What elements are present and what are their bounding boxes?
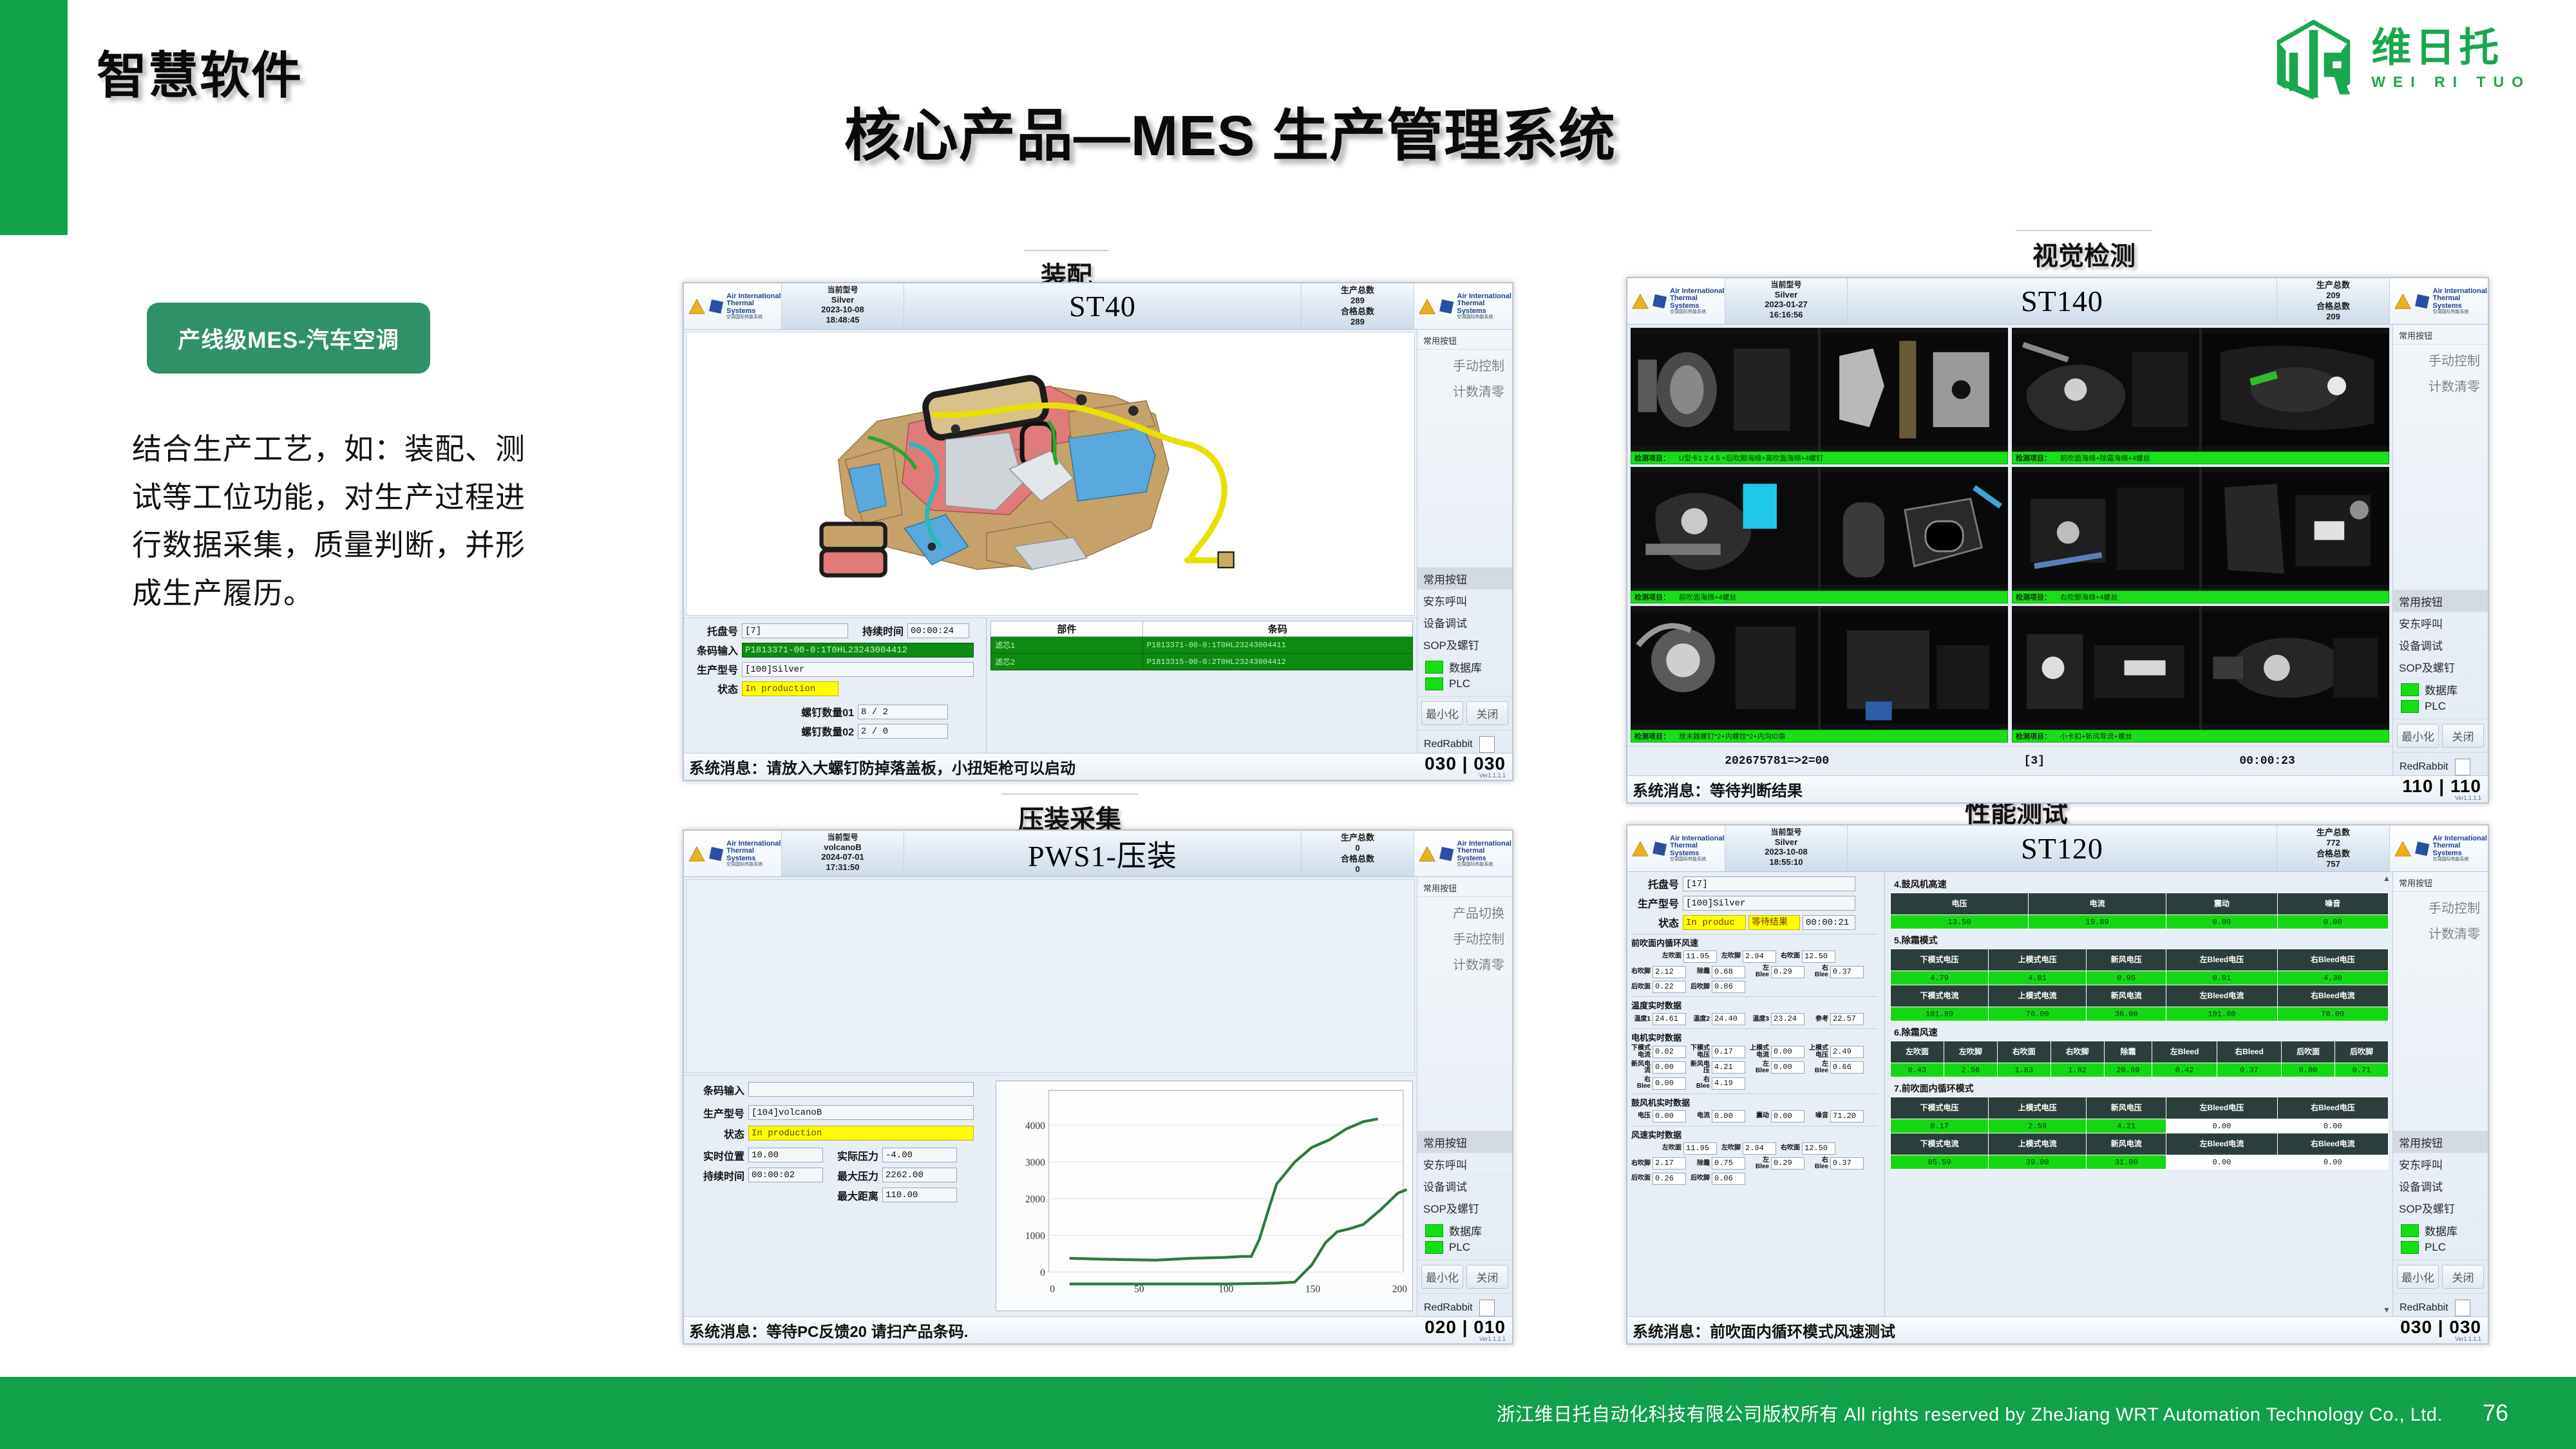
model-value: volcanoB (782, 842, 904, 853)
th-left-bleed-current: 左Bleed电流 (2166, 1133, 2277, 1155)
strip-label: 检测项目： (2016, 453, 2051, 463)
table-row[interactable]: 滤芯1 P1813371-00-0:1T0HL23243004411 (991, 637, 1413, 654)
status-wait-result: 等待结果 (1748, 915, 1800, 930)
vision-footer: 202675781=>2=00 [3] 00:00:23 (1627, 746, 2392, 775)
model-label: 当前型号 (1725, 280, 1847, 290)
field-value: 0.02 (1653, 1046, 1686, 1058)
prodmodel-label: 生产型号 (684, 1105, 748, 1121)
field-label: 后吹面 (1631, 984, 1651, 990)
sidebar-item-common[interactable]: 常用按钮 (2393, 591, 2488, 612)
close-button[interactable]: 关闭 (1466, 701, 1508, 725)
cell-part: 滤芯2 (991, 654, 1143, 670)
current-model-block: 当前型号 Silver 2023-01-27 16:16:56 (1725, 278, 1848, 324)
svg-text:100: 100 (1218, 1283, 1233, 1294)
cell-value: 0.91 (2166, 971, 2277, 985)
redrabbit-checkbox[interactable] (1479, 736, 1495, 753)
plc-status-led (2401, 1241, 2419, 1254)
status-bar: 系统消息：等待判断结果 110 | 110 Ver1.1.1.1 (1627, 775, 2488, 802)
panel-icon (1652, 293, 1667, 310)
total-label: 生产总数 (1302, 833, 1414, 843)
th-upper-mode-current: 上模式电流 (1989, 1133, 2087, 1155)
field-value: 0.00 (1771, 1046, 1804, 1058)
station-name: PWS1-压装 (904, 831, 1302, 876)
camera-view[interactable] (1821, 328, 2008, 451)
group-title: 前吹面内循环风速 (1631, 936, 1878, 949)
th-defrost: 除霜 (2104, 1041, 2152, 1063)
camera-view[interactable] (1821, 606, 2008, 730)
minimize-button[interactable]: 最小化 (1421, 701, 1463, 725)
field-value: 0.37 (1830, 1157, 1864, 1170)
th-fresh-air-voltage: 新风电压 (2087, 949, 2166, 971)
test-sections-column[interactable]: ▲ ▼ 4.鼓风机高速 电压 电流 震动 噪音 13.50 15.8 (1885, 872, 2392, 1316)
minimize-button[interactable]: 最小化 (1421, 1265, 1463, 1289)
sidebar-item-andon[interactable]: 安东呼叫 (2393, 1153, 2488, 1175)
field-label: 右吹脚 (1631, 969, 1651, 975)
camera-view[interactable] (1631, 467, 1818, 591)
field-label: 左Blee (1750, 1061, 1769, 1074)
cell-value: 0.43 (1891, 1063, 1944, 1077)
strip-label: 检测项目： (1634, 453, 1670, 463)
th-left-bleed-current: 左Bleed电流 (2166, 985, 2277, 1007)
sidebar-item-andon[interactable]: 安东呼叫 (1417, 590, 1512, 612)
brand-line3: 空调国际热能系统 (1670, 857, 1725, 862)
field-value: 2.94 (1743, 1142, 1776, 1155)
plc-status-led (1425, 677, 1443, 690)
brand-line3: 空调国际热能系统 (726, 315, 781, 319)
time-value: 18:48:45 (782, 315, 904, 325)
inspection-strip: 检测项目： 小卡扣+新风导流+螺丝 (2012, 730, 2389, 743)
camera-group: 检测项目： U型卡1 2 4 5 +后吹脚海绵+高吹面海绵+4螺钉 检测项目： … (1631, 328, 2008, 743)
test-table-defrost-windspeed: 左吹面 左吹脚 右吹面 右吹脚 除霜 左Bleed 右Bleed 后吹面 后吹脚… (1890, 1041, 2389, 1077)
brand-logo-left: Air International Thermal Systems 空调国际热能… (1627, 278, 1725, 324)
page-number: 76 (2483, 1399, 2508, 1426)
database-label: 数据库 (2425, 681, 2458, 697)
field-label: 右吹面 (1781, 953, 1800, 960)
data-group-blower: 鼓风机实时数据 电压0.00 电流0.00 震动0.00 噪音71.20 (1631, 1094, 1878, 1122)
logo-chinese-name: 维日托 (2371, 28, 2503, 68)
date-value: 2023-10-08 (782, 305, 904, 315)
panel-icon (2414, 840, 2430, 857)
pass-label: 合格总数 (2277, 849, 2389, 859)
cycle-counter: 030 | 030 (2400, 1318, 2481, 1336)
strip-label: 检测项目： (1634, 731, 1670, 741)
sidebar-action-manual[interactable]: 手动控制 (1417, 355, 1508, 374)
redrabbit-checkbox[interactable] (1479, 1300, 1495, 1316)
triangle-icon (1418, 844, 1436, 864)
time-value: 18:55:10 (1725, 857, 1847, 867)
triangle-icon (2394, 839, 2412, 858)
brand-logo-left: Air International Thermal Systems 空调国际热能… (684, 283, 782, 329)
model-label: 当前型号 (782, 833, 904, 842)
field-label: 温度2 (1690, 1016, 1710, 1023)
redrabbit-label: RedRabbit (2400, 1302, 2448, 1314)
field-label: 除霜 (1690, 1160, 1710, 1167)
status-message: 系统消息：前吹面内循环模式风速测试 (1633, 1319, 1895, 1341)
th-left-face: 左吹面 (1891, 1041, 1944, 1063)
camera-view[interactable] (2202, 606, 2389, 730)
production-counts: 生产总数 209 合格总数 209 (2277, 278, 2390, 324)
database-status-led (1425, 1224, 1443, 1237)
press-viewport[interactable] (686, 879, 1415, 1073)
status-bar: 系统消息：等待PC反馈20 请扫产品条码. 020 | 010 Ver1.1.1… (684, 1316, 1512, 1343)
plc-label: PLC (2425, 1241, 2446, 1254)
camera-view[interactable] (2202, 328, 2389, 451)
redrabbit-checkbox[interactable] (2455, 759, 2470, 775)
station-name: ST140 (1848, 278, 2277, 324)
screw01-label: 螺钉数量01 (684, 704, 858, 719)
triangle-icon (2394, 292, 2412, 311)
cell-value: 0.00 (2277, 915, 2388, 929)
minimize-button[interactable]: 最小化 (2397, 724, 2439, 748)
svg-text:150: 150 (1305, 1283, 1320, 1294)
camera-group: 检测项目： 前吹面海绵+除霜海绵+4螺丝 检测项目： 右吹脚海绵+4螺丝 (2012, 328, 2389, 743)
cycle-counter: 110 | 110 (2402, 777, 2481, 795)
actual-pressure-value: -4.00 (882, 1148, 957, 1162)
camera-view[interactable] (1631, 328, 1818, 451)
camera-view[interactable] (2012, 467, 2199, 591)
pws1-form: 条码输入 生产型号 [104]volcanoB 状态 In production… (684, 1075, 1417, 1316)
time-value: 17:31:50 (782, 862, 904, 873)
current-model-block: 当前型号 Silver 2023-10-08 18:48:45 (782, 283, 904, 329)
cell-value: 4.81 (1989, 971, 2087, 985)
cell-value: 4.21 (2087, 1119, 2166, 1133)
prodmodel-label: 生产型号 (1627, 895, 1683, 911)
triangle-icon (688, 297, 706, 316)
field-label: 温度3 (1750, 1016, 1769, 1023)
cell-value: 0.00 (2166, 1155, 2277, 1170)
cell-value: 0.42 (2152, 1063, 2217, 1077)
cell-value: 0.00 (2166, 915, 2277, 929)
field-label: 震动 (1750, 1113, 1769, 1119)
svg-text:50: 50 (1134, 1283, 1144, 1294)
tray-input[interactable]: [17] (1683, 876, 1855, 891)
cell-barcode: P1813371-00-0:1T0HL23243004411 (1142, 637, 1412, 654)
model-label: 当前型号 (1725, 828, 1847, 837)
prodmodel-input[interactable]: [100]Silver (1683, 896, 1855, 911)
table-row: 4.79 4.81 0.95 0.91 4.30 (1891, 971, 2389, 985)
col-part: 部件 (991, 621, 1143, 637)
prodmodel-input[interactable]: [100]Silver (742, 662, 974, 677)
svg-text:3000: 3000 (1025, 1157, 1045, 1168)
scroll-up-icon[interactable]: ▲ (2382, 873, 2391, 884)
close-button[interactable]: 关闭 (2442, 1265, 2484, 1289)
model-value: Silver (782, 295, 904, 305)
barcode-label: 条码输入 (684, 1082, 748, 1097)
total-label: 生产总数 (2277, 280, 2389, 290)
brand-line2: Thermal Systems (726, 300, 781, 315)
field-label: 左Blee (1750, 1157, 1769, 1170)
sidebar-item-common[interactable]: 常用按钮 (2393, 1132, 2488, 1153)
th-noise: 噪音 (2277, 893, 2388, 915)
field-value: 4.19 (1712, 1077, 1745, 1090)
plc-status-led (1425, 1241, 1443, 1254)
status-message: 系统消息：等待判断结果 (1633, 778, 1803, 800)
production-counts: 生产总数 289 合格总数 289 (1302, 283, 1414, 329)
table-header-row: 电压 电流 震动 噪音 (1891, 893, 2389, 915)
svg-text:1000: 1000 (1025, 1231, 1045, 1242)
field-label: 左Blee (1750, 965, 1769, 978)
field-value: 11.95 (1683, 1142, 1717, 1155)
cell-value: 20.69 (2104, 1063, 2152, 1077)
section-title: 6.除霜风速 (1894, 1026, 2389, 1039)
hvac-assembly-illustration (687, 332, 1414, 615)
cell-value: 0.95 (2087, 971, 2166, 985)
cell-value: 0.00 (2277, 1119, 2388, 1133)
field-value: 0.00 (1712, 1110, 1745, 1122)
table-row: 0.17 2.59 4.21 0.00 0.00 (1891, 1119, 2389, 1133)
svg-text:0: 0 (1050, 1283, 1055, 1294)
table-row[interactable]: 滤芯2 P1813315-00-0:2T0HL23243004412 (991, 654, 1413, 670)
cell-value: 0.00 (2166, 1119, 2277, 1133)
table-header-row: 下模式电压 上模式电压 新风电压 左Bleed电压 右Bleed电压 (1891, 949, 2389, 971)
test-table-defrost-mode: 下模式电压 上模式电压 新风电压 左Bleed电压 右Bleed电压 4.79 … (1890, 949, 2389, 1021)
total-value: 209 (2277, 290, 2389, 301)
window-header: Air International Thermal Systems 空调国际热能… (684, 831, 1512, 877)
brand-logo-left: Air International Thermal Systems 空调国际热能… (1627, 826, 1725, 871)
data-group-windspeed: 风速实时数据 左吹面11.95 左吹脚2.94 右吹面12.50 右吹脚2.17… (1631, 1126, 1878, 1185)
field-label: 右Blee (1809, 965, 1828, 978)
sidebar-action-manual[interactable]: 手动控制 (2393, 350, 2484, 369)
duration-label: 持续时间 (684, 1168, 748, 1183)
data-group-front-blow: 前吹面内循环风速 左吹面11.95 左吹脚2.94 右吹面12.50 右吹脚2.… (1631, 934, 1878, 993)
sidebar-item-debug[interactable]: 设备调试 (1417, 612, 1512, 634)
barcode-input[interactable]: P1813371-00-0:1T0HL23243004412 (742, 643, 974, 658)
pass-label: 合格总数 (1302, 854, 1414, 864)
field-label: 噪音 (1809, 1113, 1828, 1119)
status-value: In production (742, 681, 838, 696)
th-lower-mode-voltage: 下模式电压 (1891, 949, 1989, 971)
slide-corner-title: 智慧软件 (97, 35, 303, 108)
cell-value: 15.89 (2029, 915, 2166, 929)
sidebar-item-sop[interactable]: SOP及螺钉 (1417, 1197, 1512, 1219)
cell-value: 0.17 (1891, 1119, 1989, 1133)
database-status-led (2401, 1224, 2419, 1237)
status-elapsed: 00:00:21 (1803, 915, 1855, 930)
tray-label: 托盘号 (1627, 876, 1683, 891)
sidebar-action-reset-count[interactable]: 计数清零 (1417, 381, 1508, 400)
redrabbit-checkbox[interactable] (2455, 1300, 2470, 1316)
test-table-front-recirc: 下模式电压 上模式电压 新风电压 左Bleed电压 右Bleed电压 0.17 … (1890, 1097, 2389, 1170)
current-model-block: 当前型号 Silver 2023-10-08 18:55:10 (1725, 826, 1848, 871)
close-button[interactable]: 关闭 (1466, 1265, 1508, 1289)
cell-value: 0.71 (2335, 1063, 2389, 1077)
cell-value: 4.30 (2277, 971, 2388, 985)
sidebar-item-debug[interactable]: 设备调试 (2393, 1175, 2488, 1197)
th-right-bleed-voltage: 右Bleed电压 (2277, 1097, 2388, 1119)
sidebar-action-product-switch[interactable]: 产品切换 (1417, 903, 1508, 922)
cell-value: 0.00 (2277, 1155, 2388, 1170)
brand-line2: Thermal Systems (1457, 300, 1512, 315)
table-header-row: 部件 条码 (991, 621, 1413, 637)
th-upper-mode-voltage: 上模式电压 (1989, 1097, 2087, 1119)
th-left-bleed-voltage: 左Bleed电压 (2166, 949, 2277, 971)
cell-value: 36.00 (2087, 1007, 2166, 1021)
th-right-bleed: 右Bleed (2217, 1041, 2281, 1063)
pass-label: 合格总数 (1302, 307, 1414, 317)
sidebar-item-debug[interactable]: 设备调试 (2393, 634, 2488, 656)
group-title: 电机实时数据 (1631, 1031, 1878, 1043)
col-barcode: 条码 (1142, 621, 1412, 637)
max-pressure-value: 2262.00 (882, 1168, 957, 1182)
sidebar-item-common[interactable]: 常用按钮 (1417, 1132, 1512, 1153)
th-right-face: 右吹面 (1997, 1041, 2050, 1063)
sidebar-action-reset-count[interactable]: 计数清零 (2393, 923, 2484, 942)
th-fresh-air-current: 新风电流 (2087, 1133, 2166, 1155)
total-value: 289 (1302, 296, 1414, 306)
cell-value: 31.00 (2087, 1155, 2166, 1170)
group-title: 风速实时数据 (1631, 1128, 1878, 1141)
copyright-text: 浙江维日托自动化科技有限公司版权所有 All rights reserved b… (1497, 1399, 2443, 1426)
th-left-foot: 左吹脚 (1944, 1041, 1997, 1063)
status-bar: 系统消息：请放入大螺钉防掉落盖板，小扭矩枪可以启动 030 | 030 Ver1… (684, 753, 1512, 780)
sidebar-item-debug[interactable]: 设备调试 (1417, 1175, 1512, 1197)
camera-view[interactable] (2202, 467, 2389, 591)
scroll-down-icon[interactable]: ▼ (2382, 1305, 2391, 1315)
field-value: 11.95 (1683, 951, 1717, 963)
field-value: 0.00 (1653, 1110, 1686, 1122)
sidebar-action-manual[interactable]: 手动控制 (2393, 898, 2484, 916)
panel-icon (1439, 846, 1454, 862)
cell-value: 101.00 (2166, 1007, 2277, 1021)
cell-value: 76.00 (1989, 1007, 2087, 1021)
sidebar-item-common[interactable]: 常用按钮 (1417, 568, 1512, 590)
th-voltage: 电压 (1891, 893, 2029, 915)
screw01-value: 8 / 2 (858, 705, 948, 719)
page-title: 核心产品—MES 生产管理系统 (683, 90, 1777, 172)
inspection-strip: 检测项目： 前吹面海绵+除霜海绵+4螺丝 (2012, 451, 2389, 464)
triangle-icon (1631, 839, 1649, 858)
sidebar: 常用按钮 手动控制 计数清零 常用按钮 安东呼叫 设备调试 SOP及螺钉 数据库… (1417, 330, 1512, 753)
field-value: 4.21 (1712, 1061, 1745, 1074)
hvac-3d-model-viewport[interactable] (686, 332, 1415, 616)
field-value: 0.06 (1712, 1173, 1745, 1185)
tray-label: 托盘号 (684, 623, 742, 638)
camera-view[interactable] (2012, 606, 2199, 730)
cell-value: 101.89 (1891, 1007, 1989, 1021)
sidebar-item-sop[interactable]: SOP及螺钉 (1417, 634, 1512, 656)
total-label: 生产总数 (1302, 285, 1414, 296)
brand-logo-right: Air International Thermal Systems 空调国际热能… (1414, 831, 1512, 876)
strip-text: 右吹脚海绵+4螺丝 (2060, 592, 2118, 602)
status-message: 系统消息：等待PC反馈20 请扫产品条码. (689, 1319, 968, 1341)
th-upper-mode-voltage: 上模式电压 (1989, 949, 2087, 971)
time-value: 16:16:56 (1725, 310, 1847, 320)
field-label: 左吹脚 (1721, 953, 1741, 960)
close-button[interactable]: 关闭 (2442, 724, 2484, 748)
prodmodel-input[interactable]: [104]volcanoB (748, 1105, 974, 1120)
th-right-foot: 右吹脚 (2050, 1041, 2104, 1063)
cell-value: 1.82 (2050, 1063, 2104, 1077)
mes-window-st120: Air International Thermal Systems 空调国际热能… (1626, 824, 2489, 1345)
field-value: 0.00 (1653, 1061, 1686, 1074)
table-row: 101.89 76.00 36.00 101.00 78.00 (1891, 1007, 2389, 1021)
triangle-icon (1631, 292, 1649, 311)
sidebar-item-sop[interactable]: SOP及螺钉 (2393, 656, 2488, 678)
cell-part: 滤芯1 (991, 637, 1143, 654)
strip-text: 前吹面海绵+4螺丝 (1679, 592, 1737, 602)
svg-text:4000: 4000 (1025, 1121, 1045, 1132)
sidebar-item-andon[interactable]: 安东呼叫 (1417, 1153, 1512, 1175)
field-value: 2.12 (1653, 966, 1686, 978)
cell-value: 2.59 (1989, 1119, 2087, 1133)
data-group-motor: 电机实时数据 下模式电流0.02 下模式电压0.17 上模式电流0.00 上模式… (1631, 1028, 1878, 1090)
th-current: 电流 (2029, 893, 2166, 915)
field-value: 24.40 (1712, 1013, 1745, 1025)
field-label: 后吹脚 (1690, 1175, 1710, 1182)
table-row: 85.59 39.00 31.00 0.00 0.00 (1891, 1155, 2389, 1170)
camera-view[interactable] (2012, 328, 2199, 451)
th-lower-mode-current: 下模式电流 (1891, 985, 1989, 1007)
mes-window-st140: Air International Thermal Systems 空调国际热能… (1626, 277, 2489, 804)
camera-view[interactable] (1631, 606, 1818, 730)
station-name: ST120 (1848, 826, 2277, 871)
max-pressure-label: 最大压力 (823, 1168, 882, 1183)
panel-icon (2414, 293, 2430, 310)
brand-line2: Thermal Systems (1670, 842, 1725, 857)
field-label: 电压 (1631, 1113, 1651, 1119)
field-value: 71.20 (1830, 1110, 1864, 1122)
plc-label: PLC (2425, 700, 2446, 713)
th-vibration: 震动 (2166, 893, 2277, 915)
field-label: 上模式电压 (1809, 1045, 1828, 1058)
sidebar-action-reset-count[interactable]: 计数清零 (2393, 376, 2484, 395)
triangle-icon (1418, 297, 1436, 316)
th-right-bleed-voltage: 右Bleed电压 (2277, 949, 2388, 971)
database-label: 数据库 (1449, 659, 1482, 675)
sidebar-item-sop[interactable]: SOP及螺钉 (2393, 1197, 2488, 1219)
sidebar-item-andon[interactable]: 安东呼叫 (2393, 612, 2488, 634)
th-rear-foot: 后吹脚 (2335, 1041, 2389, 1063)
barcode-input[interactable] (748, 1082, 974, 1097)
slide-footer: 浙江维日托自动化科技有限公司版权所有 All rights reserved b… (0, 1377, 2576, 1449)
th-right-bleed-current: 右Bleed电流 (2277, 1133, 2388, 1155)
production-counts: 生产总数 772 合格总数 757 (2277, 826, 2390, 871)
sidebar-heading: 常用按钮 (2393, 325, 2488, 345)
inspection-strip: 检测项目： U型卡1 2 4 5 +后吹脚海绵+高吹面海绵+4螺钉 (1631, 451, 2008, 464)
strip-text: 前吹面海绵+除霜海绵+4螺丝 (2060, 453, 2150, 463)
model-label: 当前型号 (782, 285, 904, 295)
field-value: 23.24 (1771, 1013, 1804, 1025)
status-message: 系统消息：请放入大螺钉防掉落盖板，小扭矩枪可以启动 (689, 755, 1075, 778)
duration-label: 持续时间 (848, 623, 907, 638)
date-value: 2023-01-27 (1725, 299, 1847, 310)
camera-view[interactable] (1821, 467, 2008, 591)
cell-value: 78.00 (2277, 1007, 2388, 1021)
strip-text: 小卡扣+新风导流+螺丝 (2060, 731, 2132, 741)
field-label: 后吹面 (1631, 1175, 1651, 1182)
brand-line2: Thermal Systems (1670, 295, 1725, 310)
field-label: 下模式电流 (1631, 1045, 1651, 1058)
redrabbit-label: RedRabbit (1424, 1302, 1473, 1314)
section-title: 4.鼓风机高速 (1894, 878, 2389, 891)
sidebar: 常用按钮 产品切换 手动控制 计数清零 常用按钮 安东呼叫 设备调试 SOP及螺… (1417, 877, 1512, 1316)
field-value: 0.66 (1830, 1061, 1864, 1074)
mes-window-st40: Air International Thermal Systems 空调国际热能… (683, 282, 1513, 781)
group-title: 温度实时数据 (1631, 999, 1878, 1011)
model-value: Silver (1725, 290, 1847, 300)
sidebar-action-reset-count[interactable]: 计数清零 (1417, 954, 1508, 973)
th-upper-mode-current: 上模式电流 (1989, 985, 2087, 1007)
component-barcode-table: 部件 条码 滤芯1 P1813371-00-0:1T0HL23243004411… (990, 621, 1413, 670)
minimize-button[interactable]: 最小化 (2397, 1265, 2439, 1289)
field-value: 0.00 (1771, 1110, 1804, 1122)
brand-logo-right: Air International Thermal Systems 空调国际热能… (1414, 283, 1512, 329)
field-value: 0.00 (1653, 1077, 1686, 1090)
plc-label: PLC (1449, 1241, 1470, 1254)
sidebar-action-manual[interactable]: 手动控制 (1417, 929, 1508, 947)
th-right-bleed-current: 右Bleed电流 (2277, 985, 2388, 1007)
tray-input[interactable]: [7] (742, 623, 848, 638)
